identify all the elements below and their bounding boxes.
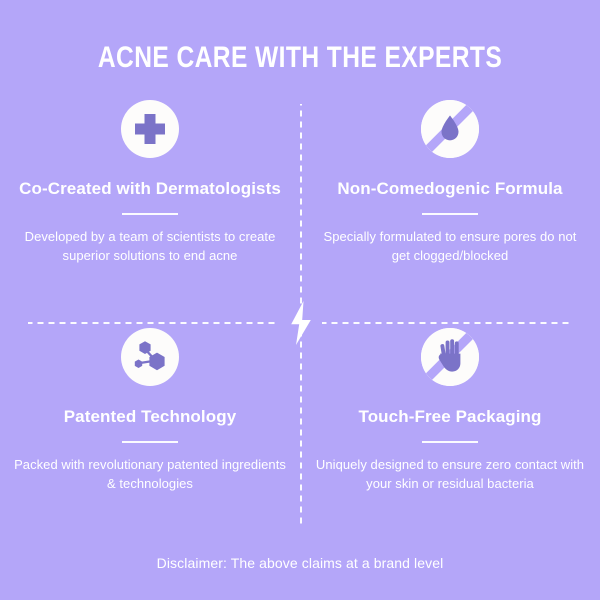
disclaimer-text: Disclaimer: The above claims at a brand … (0, 553, 600, 573)
no-touch-hand-icon (421, 328, 479, 386)
feature-card-touch-free-packaging: Touch-Free Packaging Uniquely designed t… (305, 328, 595, 493)
feature-description: Packed with revolutionary patented ingre… (5, 455, 295, 493)
feature-description: Developed by a team of scientists to cre… (5, 227, 295, 265)
feature-grid: Co-Created with Dermatologists Developed… (0, 100, 600, 530)
feature-title: Co-Created with Dermatologists (5, 178, 295, 200)
feature-description: Uniquely designed to ensure zero contact… (305, 455, 595, 493)
feature-card-non-comedogenic: Non-Comedogenic Formula Specially formul… (305, 100, 595, 265)
page-title: ACNE CARE WITH THE EXPERTS (54, 40, 546, 76)
feature-title: Non-Comedogenic Formula (305, 178, 595, 200)
feature-description: Specially formulated to ensure pores do … (305, 227, 595, 265)
feature-title: Patented Technology (5, 406, 295, 428)
no-water-droplet-icon (421, 100, 479, 158)
title-underline-rule (422, 441, 478, 443)
feature-title: Touch-Free Packaging (305, 406, 595, 428)
medical-cross-icon (121, 100, 179, 158)
title-underline-rule (122, 441, 178, 443)
title-underline-rule (422, 213, 478, 215)
feature-card-co-created: Co-Created with Dermatologists Developed… (5, 100, 295, 265)
molecule-hexagon-icon (121, 328, 179, 386)
title-underline-rule (122, 213, 178, 215)
infographic-poster: ACNE CARE WITH THE EXPERTS Co-Created wi… (0, 0, 600, 600)
feature-card-patented-technology: Patented Technology Packed with revoluti… (5, 328, 295, 493)
